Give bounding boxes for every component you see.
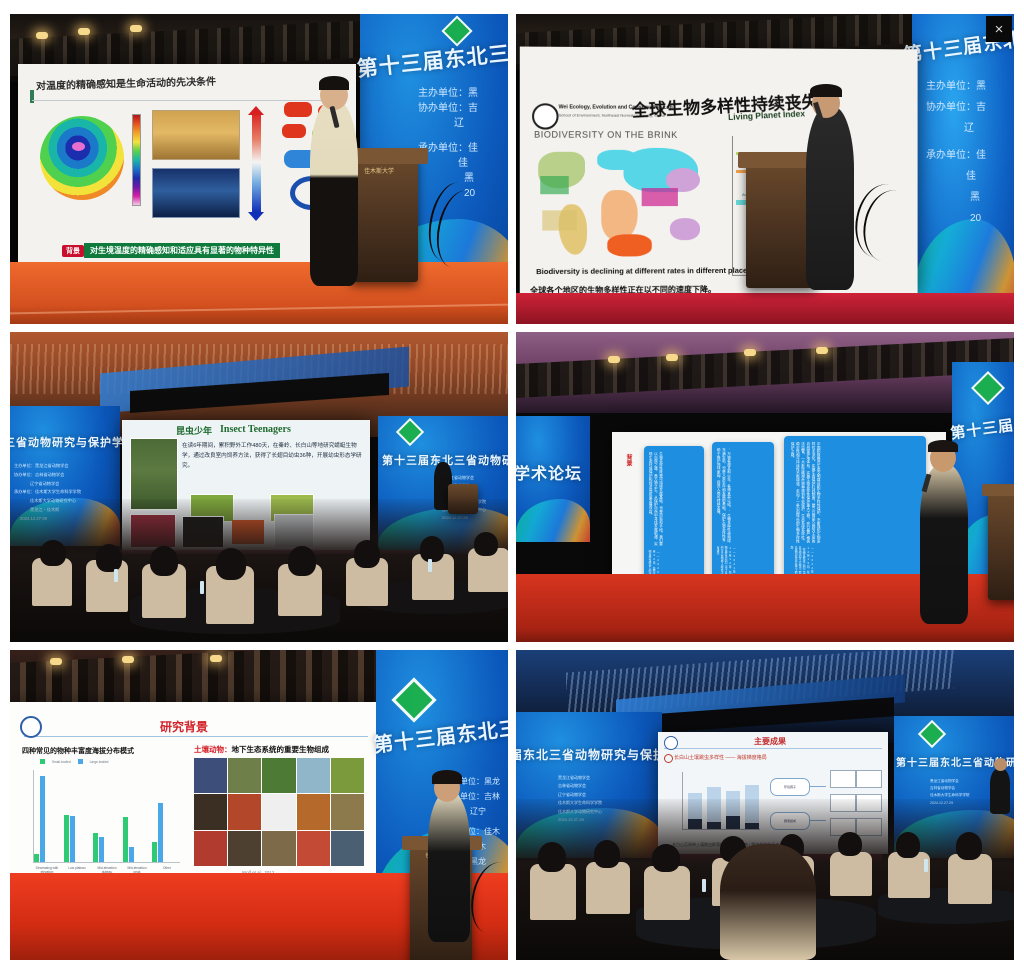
school-logo [664,736,678,750]
elevation-richness-bar-chart: Small-bodied Large-bodied Decreasing wit… [20,758,180,876]
speaker [310,100,358,286]
quote-card-3: 中国积极推进生态文明建设和生物多样性保护，不断强化生物多样性主流化。实施生态保护… [784,436,926,582]
desert-photo [152,110,240,160]
backdrop-title: 第十三届东北三省动物研究与保护 [355,19,508,83]
quote-card-3-text: 中国积极推进生态文明建设和生物多样性保护，不断强化生物多样性主流化。实施生态保护… [790,442,821,544]
event-backdrop: 第十三届东北三省动物研究与保护 主办单位：黑 协办单位：吉 辽 承办单位：佳 佳… [912,14,1014,324]
side-label: 背景 [624,454,633,466]
left-screen: 学术论坛 [516,416,590,542]
projection-screen: Wei Ecology, Evolution and Conservation … [520,47,918,300]
snow-mountain-photo [152,168,240,218]
school-logo [20,716,42,738]
close-icon[interactable]: × [986,16,1012,42]
quote-card-2: '万物各得其和以生，各得其养以成。'生物多样性使地球充满生机，也是人类生存和发展… [712,442,774,584]
chart-legend: Small-bodied Large-bodied [40,759,108,764]
collage-sheet: 第十三届东北三省动物研究与保护 主办单位：黑 协办单位：吉 辽 承办单位：佳 佳… [0,0,1024,974]
slide-title: 对温度的精确感知是生命活动的先决条件 [36,73,216,93]
chart-bars [34,770,178,862]
photo-panel-1[interactable]: 第十三届东北三省动物研究与保护 主办单位：黑 协办单位：吉 辽 承办单位：佳 佳… [10,14,508,324]
quote-card-1-text: 生物多样性既是可持续发展基础，也是目标和手段。我们要以自然之道，养万物之生，从保… [648,452,664,548]
slide-body: 在读6年期间，累积野外工作480天，在秦岭、长白山等地研究蜻蜓生物学，通过改良室… [182,442,362,471]
photo-panel-4[interactable]: 学术论坛 背景 生物多样性既是可持续发展基础，也是目标和手段。我们要以自然之道，… [516,332,1014,642]
colorbar [132,114,141,206]
organizer-label: 主办单位： [418,88,468,99]
soil-fauna-subtitle: 土壤动物：地下生态系统的重要生物组成 [194,744,329,755]
slide-banner-text: 对生境温度的精确感知和适应具有显著的物种特异性 [84,243,280,258]
slide-title-en: Insect Teenagers [220,424,291,435]
photo-panel-3[interactable]: 三省动物研究与保护学术论坛 主办单位：黑龙江省动物学会 协办单位：吉林省动物学会… [10,332,508,642]
photo-grid: 第十三届东北三省动物研究与保护 主办单位：黑 协办单位：吉 辽 承办单位：佳 佳… [10,14,1014,960]
slide-bullet: 长白山土壤跳虫多样性 —— 海拔梯度格局 [674,754,767,761]
podium [988,490,1014,600]
quote-card-1: 生物多样性既是可持续发展基础，也是目标和手段。我们要以自然之道，养万物之生，从保… [644,446,704,586]
lab-logo [532,103,559,129]
polar-temperature-globe [40,116,124,200]
stage-floor [516,293,1014,324]
slide-title-cn: 昆虫少年 [176,424,212,437]
slide-title: 研究背景 [160,718,208,735]
photo-panel-5[interactable]: 研究背景 四种常见的物种丰富度海拔分布模式 土壤动物：地下生态系统的重要生物组成… [10,650,508,960]
speaker [428,792,470,942]
speaker [806,106,854,290]
audience [516,799,1014,960]
chart-subtitle: 四种常见的物种丰富度海拔分布模式 [22,746,134,756]
co-organizer-label: 协办单位： [418,103,468,114]
world-map [536,146,708,265]
photo-panel-2[interactable]: 第十三届东北三省动物研究与保护 主办单位：黑 协办单位：吉 辽 承办单位：佳 佳… [516,14,1014,324]
right-screen-title: 第十三届东北 [949,409,1014,443]
photo-panel-6[interactable]: 届东北三省动物研究与保护论坛 黑龙江省动物学会 吉林省动物学会 辽宁省动物学会 … [516,650,1014,960]
temperature-gradient-arrow [252,112,261,212]
slide-headline-en: BIODIVERSITY ON THE BRINK [534,130,678,140]
slide-caption-en: Biodiversity is declining at different r… [536,266,751,276]
slide-title: 主要成果 [754,736,786,747]
soil-fauna-photo-grid [194,758,364,866]
projection-screen: 对温度的精确感知是生命活动的先决条件 [18,64,356,266]
stage-floor [10,262,508,324]
quote-card-2-text: '万物各得其和以生，各得其养以成。'生物多样性使地球充满生机，也是人类生存和发展… [716,448,732,544]
slide-banner-chip: 背景 [62,245,84,257]
left-screen-title: 学术论坛 [516,460,582,484]
audience [10,499,508,642]
